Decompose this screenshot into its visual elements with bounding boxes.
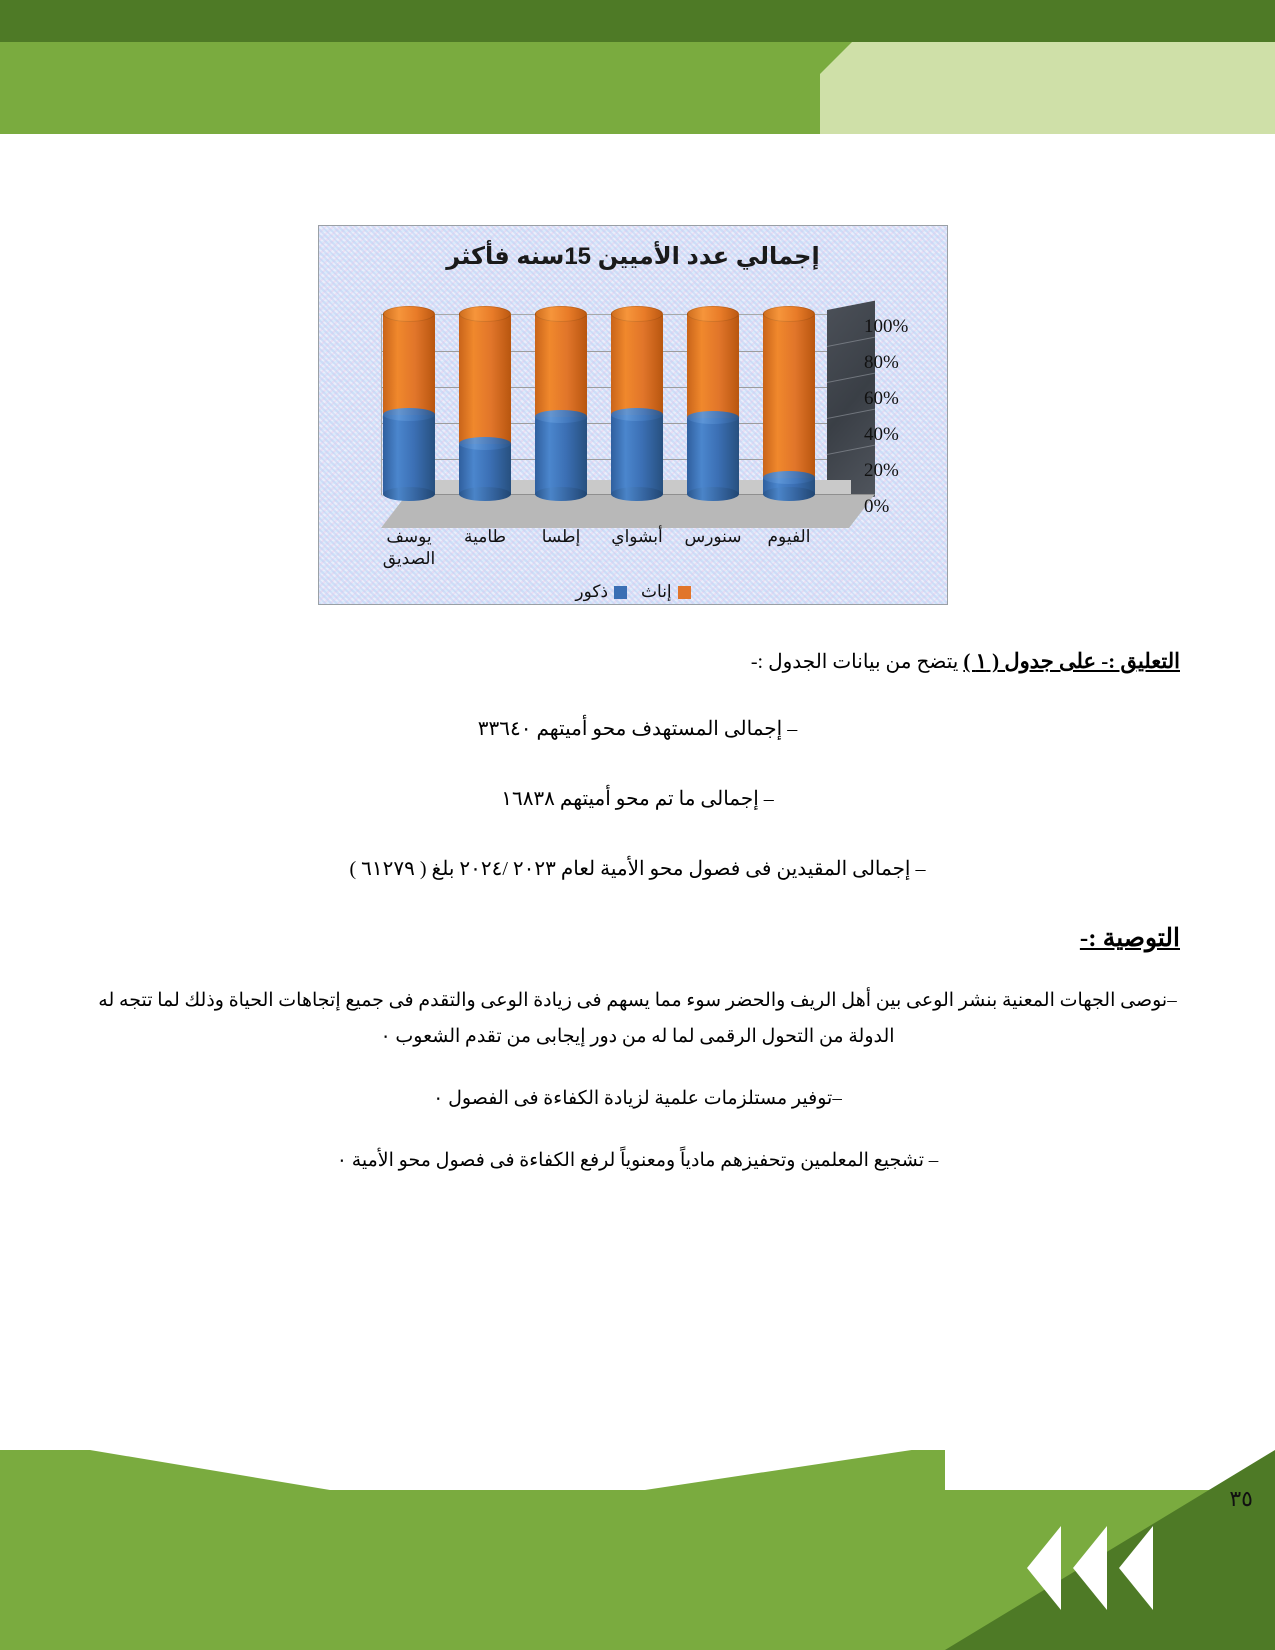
bar-cap-bottom bbox=[459, 487, 511, 501]
bar-cap-mid bbox=[383, 408, 435, 421]
banner-notch bbox=[760, 42, 852, 134]
commentary-heading-rest: يتضح من بيانات الجدول :- bbox=[751, 651, 963, 673]
y-tick-0: 0% bbox=[864, 496, 942, 518]
y-tick-60: 60% bbox=[864, 388, 942, 410]
chart-legend: إناث ذكور bbox=[319, 582, 947, 602]
bar-segment-female bbox=[763, 314, 815, 478]
legend-label-male: ذكور bbox=[575, 582, 608, 602]
commentary-heading: التعليق :- على جدول ( ١ ) يتضح من بيانات… bbox=[95, 645, 1180, 679]
bar-segment-male bbox=[611, 415, 663, 494]
recommendation-paragraph: – تشجيع المعلمين وتحفيزهم مادياً ومعنويا… bbox=[95, 1143, 1180, 1179]
legend-label-female: إناث bbox=[641, 582, 672, 602]
legend-item-female: إناث bbox=[641, 582, 691, 602]
top-decorative-banner bbox=[0, 0, 1275, 140]
bar-cap-top bbox=[459, 306, 511, 322]
chart-plot-area bbox=[381, 314, 851, 494]
commentary-heading-bold: التعليق :- على جدول ( ١ ) bbox=[963, 649, 1180, 673]
bar-cap-top bbox=[383, 306, 435, 322]
chart-title: إجمالي عدد الأميين 15سنه فأكثر bbox=[319, 242, 947, 271]
x-label-youssef-seddik: يوسف الصديق bbox=[369, 526, 449, 570]
bar-segment-female bbox=[535, 314, 587, 417]
y-tick-20: 20% bbox=[864, 460, 942, 482]
recommendation-paragraph: –نوصى الجهات المعنية بنشر الوعى بين أهل … bbox=[95, 983, 1180, 1055]
x-label-ebshway: أبشواي bbox=[597, 526, 677, 548]
x-label-tamiya: طامية bbox=[445, 526, 525, 548]
recommendation-heading: التوصية :- bbox=[95, 923, 1180, 953]
chart-y-axis-labels: 100% 80% 60% 40% 20% 0% bbox=[864, 298, 942, 508]
bar-cap-mid bbox=[459, 437, 511, 450]
chart-bar bbox=[459, 314, 511, 494]
chevron-icon bbox=[1073, 1526, 1107, 1610]
bottom-banner-slope-right bbox=[645, 1450, 945, 1490]
chart-bar bbox=[535, 314, 587, 494]
bar-cap-bottom bbox=[535, 487, 587, 501]
bar-cap-top bbox=[611, 306, 663, 322]
document-body: التعليق :- على جدول ( ١ ) يتضح من بيانات… bbox=[95, 645, 1180, 1205]
bottom-decorative-banner bbox=[0, 1450, 1275, 1650]
bar-segment-female bbox=[687, 314, 739, 418]
x-label-etsa: إطسا bbox=[521, 526, 601, 548]
bar-cap-bottom bbox=[763, 487, 815, 501]
chart-x-axis-labels: الفيوم سنورس أبشواي إطسا طامية يوسف الصد… bbox=[381, 526, 861, 582]
banner-pale-block bbox=[820, 42, 1275, 134]
chart-bar bbox=[383, 314, 435, 494]
bottom-banner-dark-triangle bbox=[945, 1450, 1275, 1650]
x-label-fayoum: الفيوم bbox=[749, 526, 829, 548]
recommendation-paragraph: –توفير مستلزمات علمية لزيادة الكفاءة فى … bbox=[95, 1081, 1180, 1117]
y-tick-100: 100% bbox=[864, 316, 942, 338]
legend-swatch-male-icon bbox=[614, 586, 627, 599]
bar-segment-female bbox=[383, 314, 435, 415]
legend-swatch-female-icon bbox=[678, 586, 691, 599]
bar-cap-bottom bbox=[687, 487, 739, 501]
bar-segment-male bbox=[687, 418, 739, 494]
bar-segment-female bbox=[459, 314, 511, 444]
chart-container: إجمالي عدد الأميين 15سنه فأكثر bbox=[318, 225, 948, 605]
commentary-bullet: – إجمالى ما تم محو أميتهم ١٦٨٣٨ bbox=[95, 783, 1180, 815]
commentary-bullet: – إجمالى المقيدين فى فصول محو الأمية لعا… bbox=[95, 853, 1180, 885]
banner-dark-bar bbox=[0, 0, 1275, 42]
chevron-icon bbox=[1027, 1526, 1061, 1610]
bar-cap-mid bbox=[763, 471, 815, 484]
bottom-banner-slope-left bbox=[0, 1450, 330, 1490]
y-tick-40: 40% bbox=[864, 424, 942, 446]
bar-cap-mid bbox=[687, 411, 739, 424]
bar-cap-bottom bbox=[611, 487, 663, 501]
y-tick-80: 80% bbox=[864, 352, 942, 374]
commentary-bullet: – إجمالى المستهدف محو أميتهم ٣٣٦٤٠ bbox=[95, 713, 1180, 745]
bar-cap-mid bbox=[611, 408, 663, 421]
chart-bar bbox=[763, 314, 815, 494]
bar-cap-top bbox=[687, 306, 739, 322]
bar-segment-male bbox=[535, 417, 587, 494]
chart-bar bbox=[687, 314, 739, 494]
bar-segment-male bbox=[383, 415, 435, 494]
x-label-sanurs: سنورس bbox=[673, 526, 753, 548]
legend-item-male: ذكور bbox=[575, 582, 627, 602]
bar-cap-bottom bbox=[383, 487, 435, 501]
chart-bar bbox=[611, 314, 663, 494]
chevron-icon bbox=[1119, 1526, 1153, 1610]
page-number: ٣٥ bbox=[1229, 1486, 1253, 1512]
bar-cap-top bbox=[763, 306, 815, 322]
bar-cap-mid bbox=[535, 410, 587, 423]
bar-cap-top bbox=[535, 306, 587, 322]
bar-segment-female bbox=[611, 314, 663, 415]
